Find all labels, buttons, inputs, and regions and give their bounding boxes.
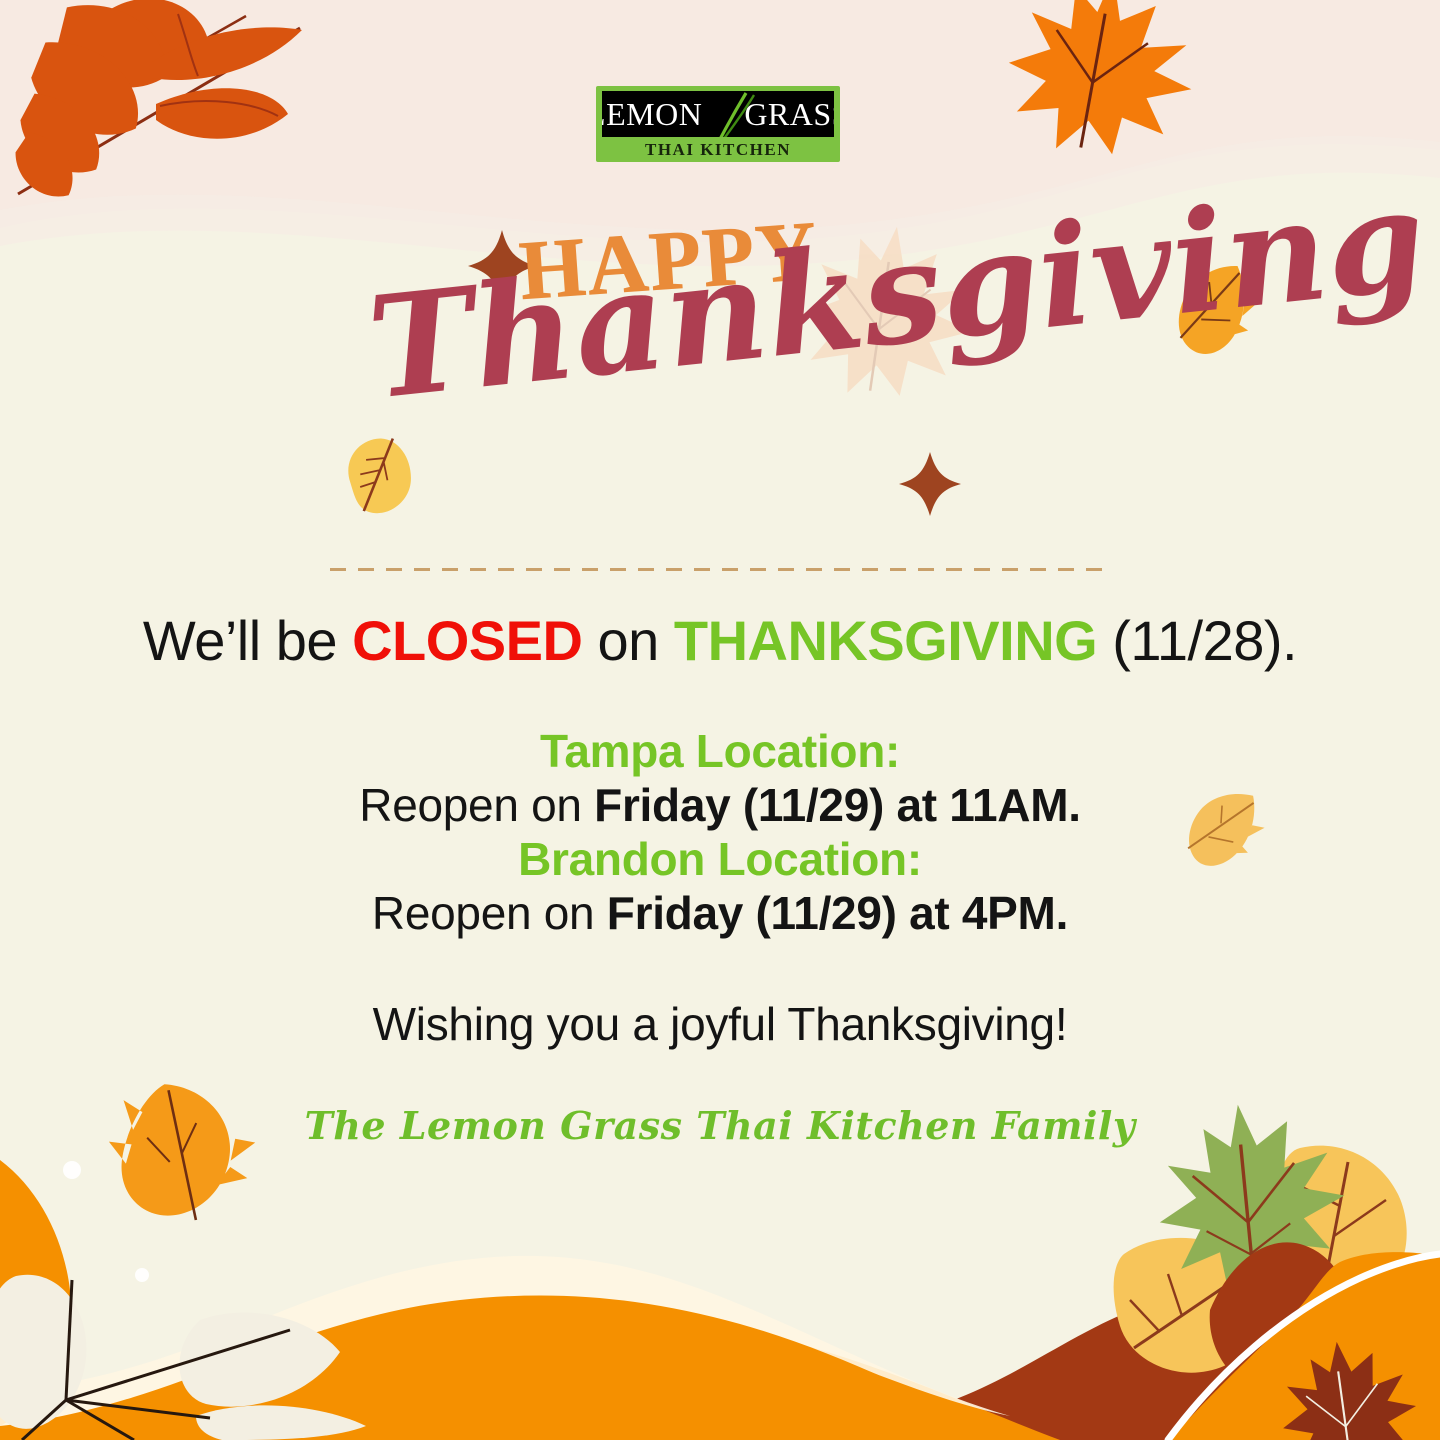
- dot-white: [1369, 1230, 1385, 1246]
- dot-white: [1231, 1235, 1249, 1253]
- location-heading: Brandon Location:: [0, 832, 1440, 886]
- thanksgiving-announcement-poster: LemonGrass THAI KITCHEN HAPPY Thanksgivi…: [0, 0, 1440, 1440]
- closure-prefix: We’ll be: [143, 609, 352, 672]
- announcement-content: We’ll be CLOSED on THANKSGIVING (11/28).…: [0, 610, 1440, 1148]
- wish-message: Wishing you a joyful Thanksgiving!: [0, 997, 1440, 1051]
- logo-wordmark: LemonGrass: [602, 98, 834, 130]
- dot-white: [135, 1268, 149, 1282]
- logo-subtitle: THAI KITCHEN: [645, 141, 791, 158]
- reopen-prefix: Reopen on: [359, 779, 594, 831]
- holiday-word: THANKSGIVING: [674, 609, 1097, 672]
- closure-statement: We’ll be CLOSED on THANKSGIVING (11/28).: [0, 610, 1440, 672]
- location-reopen-line: Reopen on Friday (11/29) at 11AM.: [0, 778, 1440, 832]
- dot-white: [63, 1161, 81, 1179]
- dot-white: [1182, 1332, 1204, 1354]
- location-entry: Tampa Location: Reopen on Friday (11/29)…: [0, 724, 1440, 833]
- title-block: HAPPY Thanksgiving: [0, 200, 1440, 540]
- dashed-divider: [330, 568, 1110, 571]
- title-thanksgiving: Thanksgiving: [363, 170, 1431, 420]
- logo-word-lemon: Lemon: [602, 96, 702, 132]
- location-heading: Tampa Location:: [0, 724, 1440, 778]
- dot-white: [279, 1335, 305, 1361]
- location-entry: Brandon Location: Reopen on Friday (11/2…: [0, 832, 1440, 941]
- closed-word: CLOSED: [352, 609, 582, 672]
- signature: The Lemon Grass Thai Kitchen Family: [0, 1103, 1440, 1148]
- reopen-prefix: Reopen on: [372, 887, 607, 939]
- logo-nameplate: LemonGrass: [602, 91, 834, 137]
- closure-middle: on: [582, 609, 673, 672]
- closure-suffix: (11/28).: [1097, 609, 1297, 672]
- location-reopen-line: Reopen on Friday (11/29) at 4PM.: [0, 886, 1440, 940]
- reopen-detail: Friday (11/29) at 11AM.: [594, 779, 1081, 831]
- brand-logo: LemonGrass THAI KITCHEN: [596, 86, 840, 162]
- locations-list: Tampa Location: Reopen on Friday (11/29)…: [0, 724, 1440, 941]
- reopen-detail: Friday (11/29) at 4PM.: [607, 887, 1068, 939]
- logo-word-grass: Grass: [744, 96, 834, 132]
